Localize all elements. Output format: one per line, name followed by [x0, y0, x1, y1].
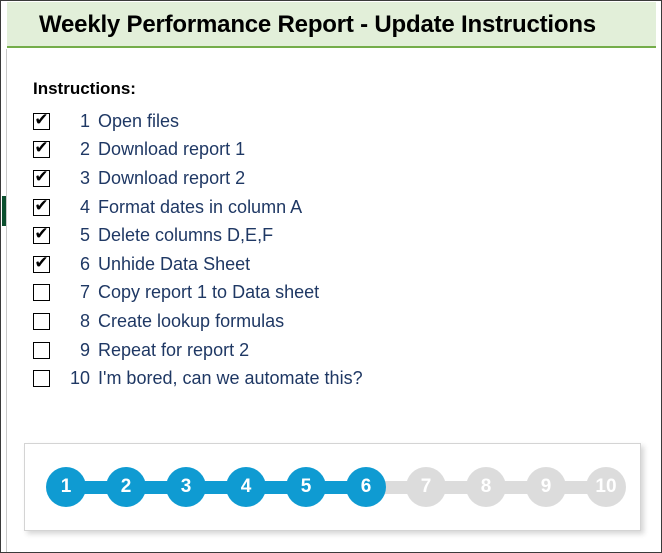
step-number: 7 [421, 476, 432, 498]
check-icon: ✔ [34, 224, 49, 245]
checklist-row-number: 3 [50, 168, 98, 189]
step-circle-complete[interactable]: 5 [286, 467, 326, 507]
step-number: 2 [121, 476, 132, 498]
step-circle-complete[interactable]: 1 [46, 467, 86, 507]
check-icon: ✔ [34, 196, 49, 217]
checklist-row-label: I'm bored, can we automate this? [98, 368, 613, 389]
check-icon: ✔ [34, 253, 49, 274]
step-number: 6 [361, 476, 372, 498]
step-number: 8 [481, 476, 492, 498]
checklist-row[interactable]: ✔1Open files [33, 107, 613, 136]
checklist-row-number: 2 [50, 139, 98, 160]
step-circle-complete[interactable]: 4 [226, 467, 266, 507]
step-circle-pending[interactable]: 10 [586, 467, 626, 507]
step-number: 3 [181, 476, 192, 498]
checkbox-checked[interactable]: ✔ [33, 113, 50, 130]
checklist-row-number: 4 [50, 197, 98, 218]
step-circle-complete[interactable]: 6 [346, 467, 386, 507]
checklist-row[interactable]: 10I'm bored, can we automate this? [33, 364, 613, 393]
checkbox-unchecked[interactable] [33, 313, 50, 330]
checklist-row-number: 10 [50, 368, 98, 389]
checkbox-unchecked[interactable] [33, 370, 50, 387]
checklist-row-label: Open files [98, 111, 613, 132]
instructions-checklist: ✔1Open files✔2Download report 1✔3Downloa… [33, 107, 613, 393]
checklist-row-label: Unhide Data Sheet [98, 254, 613, 275]
checkbox-unchecked[interactable] [33, 342, 50, 359]
step-number: 9 [541, 476, 552, 498]
row-selection-marker [2, 196, 6, 226]
step-circle-complete[interactable]: 3 [166, 467, 206, 507]
checklist-row[interactable]: 7Copy report 1 to Data sheet [33, 279, 613, 308]
step-number: 10 [595, 476, 616, 498]
left-rail-divider [6, 49, 7, 553]
progress-stepper-panel: 12345678910 [24, 443, 641, 531]
checklist-row-label: Download report 1 [98, 139, 613, 160]
checkbox-checked[interactable]: ✔ [33, 141, 50, 158]
check-icon: ✔ [34, 110, 49, 131]
checkbox-checked[interactable]: ✔ [33, 256, 50, 273]
progress-stepper: 12345678910 [38, 444, 641, 530]
spreadsheet-canvas: Weekly Performance Report - Update Instr… [0, 0, 662, 553]
checklist-row-number: 9 [50, 340, 98, 361]
checkbox-checked[interactable]: ✔ [33, 170, 50, 187]
check-icon: ✔ [34, 138, 49, 159]
checklist-row-label: Create lookup formulas [98, 311, 613, 332]
title-banner: Weekly Performance Report - Update Instr… [7, 2, 656, 48]
page-title: Weekly Performance Report - Update Instr… [39, 11, 596, 39]
checklist-row-number: 7 [50, 282, 98, 303]
checklist-row-number: 8 [50, 311, 98, 332]
step-number: 5 [301, 476, 312, 498]
checklist-row[interactable]: ✔2Download report 1 [33, 136, 613, 165]
checklist-row-number: 1 [50, 111, 98, 132]
step-number: 4 [241, 476, 252, 498]
checkbox-checked[interactable]: ✔ [33, 199, 50, 216]
checklist-row-number: 6 [50, 254, 98, 275]
instructions-heading: Instructions: [33, 79, 136, 99]
checklist-row-number: 5 [50, 225, 98, 246]
checkbox-checked[interactable]: ✔ [33, 227, 50, 244]
step-circle-complete[interactable]: 2 [106, 467, 146, 507]
checklist-row-label: Format dates in column A [98, 197, 613, 218]
checklist-row[interactable]: ✔4Format dates in column A [33, 193, 613, 222]
check-icon: ✔ [34, 167, 49, 188]
step-number: 1 [61, 476, 72, 498]
checklist-row[interactable]: 8Create lookup formulas [33, 307, 613, 336]
checklist-row-label: Copy report 1 to Data sheet [98, 282, 613, 303]
checkbox-unchecked[interactable] [33, 284, 50, 301]
checklist-row-label: Repeat for report 2 [98, 340, 613, 361]
step-circle-pending[interactable]: 9 [526, 467, 566, 507]
step-circle-pending[interactable]: 8 [466, 467, 506, 507]
checklist-row[interactable]: ✔5Delete columns D,E,F [33, 221, 613, 250]
checklist-row[interactable]: 9Repeat for report 2 [33, 336, 613, 365]
checklist-row-label: Delete columns D,E,F [98, 225, 613, 246]
checklist-row-label: Download report 2 [98, 168, 613, 189]
checklist-row[interactable]: ✔3Download report 2 [33, 164, 613, 193]
step-circle-pending[interactable]: 7 [406, 467, 446, 507]
checklist-row[interactable]: ✔6Unhide Data Sheet [33, 250, 613, 279]
